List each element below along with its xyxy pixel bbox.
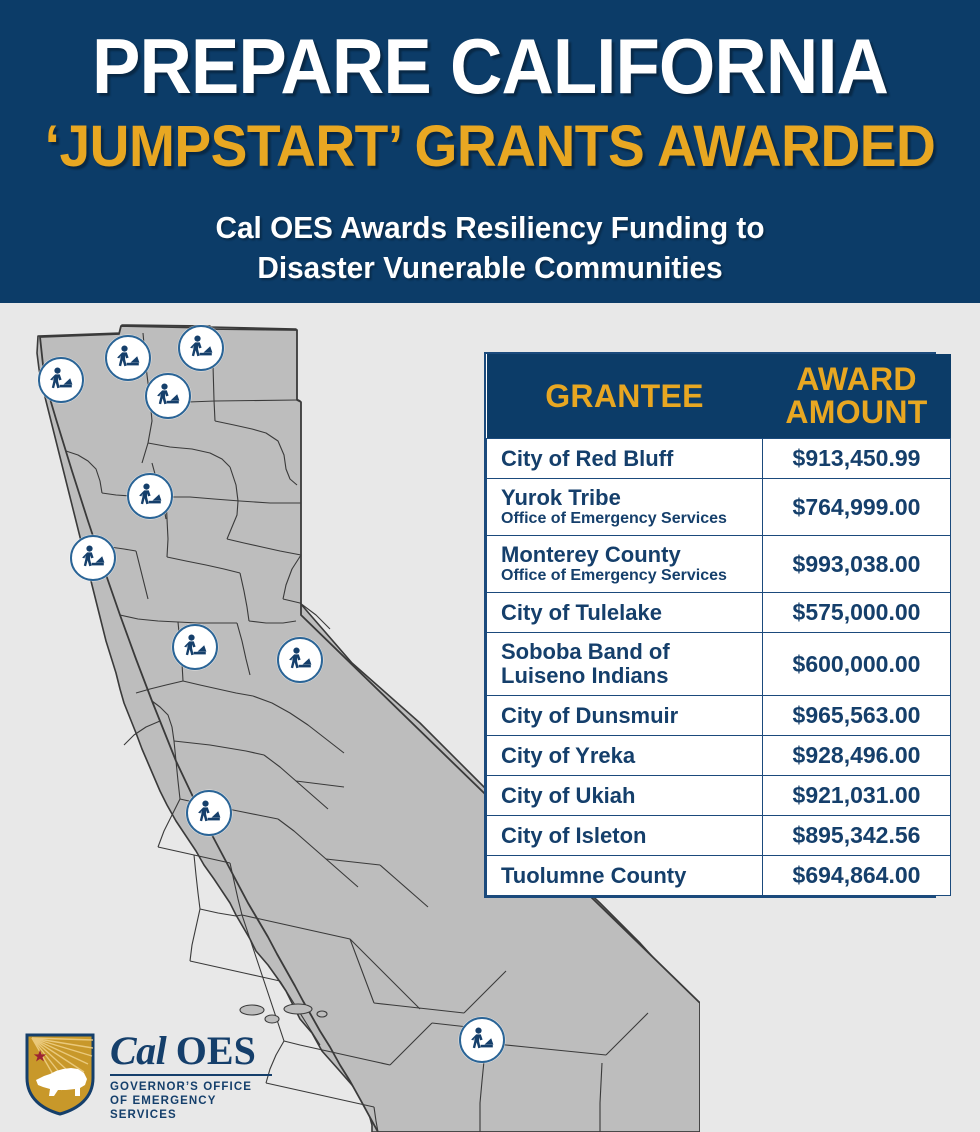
cell-grantee: City of Red Bluff xyxy=(487,439,763,479)
grantee-name: Soboba Band ofLuiseno Indians xyxy=(501,640,756,688)
roadwork-worker-icon xyxy=(180,632,210,662)
roadwork-worker-icon xyxy=(467,1025,497,1055)
roadwork-worker-icon xyxy=(78,543,108,573)
grants-table: GRANTEE AWARD AMOUNT City of Red Bluff$9… xyxy=(486,354,951,896)
wordmark-cal: Cal xyxy=(110,1028,166,1073)
cal-oes-department-name: GOVERNOR’S OFFICE OF EMERGENCY SERVICES xyxy=(110,1080,272,1122)
map-pin-tulelake[interactable] xyxy=(178,325,224,371)
cell-grantee: City of Dunsmuir xyxy=(487,696,763,736)
cell-grantee: City of Yreka xyxy=(487,736,763,776)
cell-grantee: Soboba Band ofLuiseno Indians xyxy=(487,633,763,696)
grants-table-head: GRANTEE AWARD AMOUNT xyxy=(487,354,951,439)
cell-award-amount: $694,864.00 xyxy=(763,856,951,896)
roadwork-worker-icon xyxy=(153,381,183,411)
cell-award-amount: $928,496.00 xyxy=(763,736,951,776)
page-title-primary: PREPARE CALIFORNIA xyxy=(34,26,945,106)
infographic-poster: PREPARE CALIFORNIA ‘JUMPSTART’ GRANTS AW… xyxy=(0,0,980,1132)
roadwork-worker-icon xyxy=(135,481,165,511)
wordmark-divider xyxy=(110,1074,272,1076)
cell-grantee: City of Ukiah xyxy=(487,776,763,816)
map-pin-soboba[interactable] xyxy=(459,1017,505,1063)
header-banner: PREPARE CALIFORNIA ‘JUMPSTART’ GRANTS AW… xyxy=(0,0,980,303)
cal-oes-wordmark: Cal OES GOVERNOR’S OFFICE OF EMERGENCY S… xyxy=(110,1030,272,1122)
cal-oes-bear-shield-icon xyxy=(22,1030,98,1123)
tagline-line-2: Disaster Vunerable Communities xyxy=(20,248,961,288)
roadwork-worker-icon xyxy=(113,343,143,373)
cell-grantee: City of Isleton xyxy=(487,816,763,856)
column-header-award-amount: AWARD AMOUNT xyxy=(763,354,951,439)
table-row: Tuolumne County$694,864.00 xyxy=(487,856,951,896)
column-header-grantee: GRANTEE xyxy=(487,354,763,439)
map-pin-ukiah[interactable] xyxy=(70,535,116,581)
grantee-name: Monterey County xyxy=(501,543,756,567)
tagline-line-1: Cal OES Awards Resiliency Funding to xyxy=(20,208,961,248)
table-row: City of Red Bluff$913,450.99 xyxy=(487,439,951,479)
roadwork-worker-icon xyxy=(186,333,216,363)
table-row: City of Isleton$895,342.56 xyxy=(487,816,951,856)
cell-award-amount: $913,450.99 xyxy=(763,439,951,479)
roadwork-worker-icon xyxy=(285,645,315,675)
cell-award-amount: $895,342.56 xyxy=(763,816,951,856)
cell-award-amount: $764,999.00 xyxy=(763,479,951,536)
table-row: City of Tulelake$575,000.00 xyxy=(487,593,951,633)
grantee-subtitle: Office of Emergency Services xyxy=(501,510,756,528)
grantee-name: Yurok Tribe xyxy=(501,486,756,510)
cell-grantee: City of Tulelake xyxy=(487,593,763,633)
table-row: Yurok TribeOffice of Emergency Services$… xyxy=(487,479,951,536)
department-line-2: OF EMERGENCY SERVICES xyxy=(110,1094,272,1122)
grantee-subtitle: Office of Emergency Services xyxy=(501,567,756,585)
grantee-name: City of Red Bluff xyxy=(501,447,756,471)
cal-oes-wordmark-text: Cal OES xyxy=(110,1030,272,1072)
roadwork-worker-icon xyxy=(194,798,224,828)
grantee-name: City of Dunsmuir xyxy=(501,704,756,728)
map-pin-tuolumne[interactable] xyxy=(277,637,323,683)
map-pin-yurok[interactable] xyxy=(38,357,84,403)
grants-table-container: GRANTEE AWARD AMOUNT City of Red Bluff$9… xyxy=(484,352,936,898)
column-header-award-line1: AWARD xyxy=(796,361,917,397)
map-pin-dunsmuir[interactable] xyxy=(145,373,191,419)
map-pin-yreka[interactable] xyxy=(105,335,151,381)
page-title-secondary: ‘JUMPSTART’ GRANTS AWARDED xyxy=(25,116,956,178)
grantee-name: City of Yreka xyxy=(501,744,756,768)
cell-award-amount: $575,000.00 xyxy=(763,593,951,633)
cell-award-amount: $921,031.00 xyxy=(763,776,951,816)
cell-award-amount: $965,563.00 xyxy=(763,696,951,736)
table-row: Soboba Band ofLuiseno Indians$600,000.00 xyxy=(487,633,951,696)
page-tagline: Cal OES Awards Resiliency Funding to Dis… xyxy=(20,208,961,288)
table-row: Monterey CountyOffice of Emergency Servi… xyxy=(487,536,951,593)
cal-oes-logo: Cal OES GOVERNOR’S OFFICE OF EMERGENCY S… xyxy=(22,1030,272,1122)
map-pin-isleton[interactable] xyxy=(172,624,218,670)
table-header-row: GRANTEE AWARD AMOUNT xyxy=(487,354,951,439)
wordmark-oes: OES xyxy=(176,1028,256,1073)
cell-grantee: Yurok TribeOffice of Emergency Services xyxy=(487,479,763,536)
cell-grantee: Tuolumne County xyxy=(487,856,763,896)
cell-award-amount: $600,000.00 xyxy=(763,633,951,696)
grantee-name: City of Tulelake xyxy=(501,601,756,625)
map-pin-red-bluff[interactable] xyxy=(127,473,173,519)
cell-award-amount: $993,038.00 xyxy=(763,536,951,593)
map-pin-monterey[interactable] xyxy=(186,790,232,836)
grants-table-body: City of Red Bluff$913,450.99Yurok TribeO… xyxy=(487,439,951,896)
grantee-name: City of Isleton xyxy=(501,824,756,848)
cell-grantee: Monterey CountyOffice of Emergency Servi… xyxy=(487,536,763,593)
roadwork-worker-icon xyxy=(46,365,76,395)
department-line-1: GOVERNOR’S OFFICE xyxy=(110,1080,272,1094)
column-header-award-line2: AMOUNT xyxy=(785,394,927,430)
table-row: City of Ukiah$921,031.00 xyxy=(487,776,951,816)
table-row: City of Dunsmuir$965,563.00 xyxy=(487,696,951,736)
table-row: City of Yreka$928,496.00 xyxy=(487,736,951,776)
grantee-name: Tuolumne County xyxy=(501,864,756,888)
grantee-name: City of Ukiah xyxy=(501,784,756,808)
